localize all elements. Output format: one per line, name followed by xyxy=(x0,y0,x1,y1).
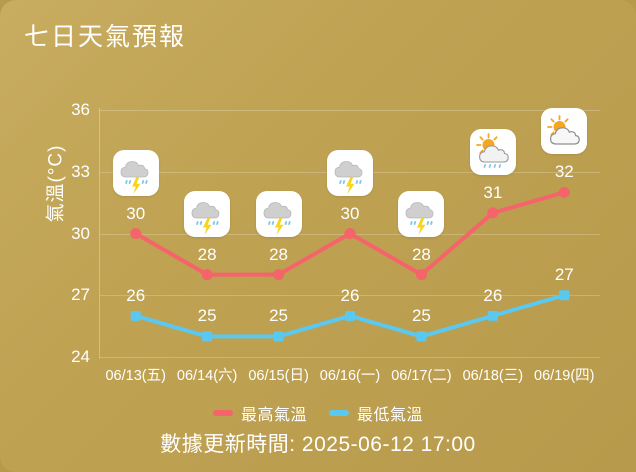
data-value-label: 28 xyxy=(412,245,431,265)
data-value-label: 26 xyxy=(341,286,360,306)
x-axis-tick: 06/17(二) xyxy=(391,364,451,385)
update-time-text: 數據更新時間: 2025-06-12 17:00 xyxy=(0,428,636,458)
weather-forecast-card: 七日天氣預報 2427303336 氣溫(°C) 06/13(五)06/14(六… xyxy=(0,0,636,472)
thunderstorm-rain-icon xyxy=(327,150,373,196)
legend-item[interactable]: 最高氣溫 xyxy=(213,401,307,425)
legend-label: 最低氣溫 xyxy=(357,401,423,425)
x-axis-tick: 06/16(一) xyxy=(320,364,380,385)
data-value-label: 30 xyxy=(126,204,145,224)
thunderstorm-rain-icon xyxy=(256,191,302,237)
legend-item[interactable]: 最低氣溫 xyxy=(329,401,423,425)
data-value-label: 25 xyxy=(198,306,217,326)
x-axis-tick: 06/19(四) xyxy=(534,364,594,385)
x-axis-tick: 06/15(日) xyxy=(248,364,308,385)
thunderstorm-rain-icon xyxy=(113,150,159,196)
sun-cloud-icon xyxy=(541,108,587,154)
legend-color-swatch xyxy=(213,410,233,416)
y-axis-tick: 24 xyxy=(46,347,90,367)
chart-plot-area xyxy=(100,110,600,357)
data-value-label: 25 xyxy=(412,306,431,326)
thunderstorm-rain-icon xyxy=(398,191,444,237)
gridline xyxy=(100,357,600,358)
gridline xyxy=(100,234,600,235)
data-value-label: 30 xyxy=(341,204,360,224)
data-value-label: 31 xyxy=(483,183,502,203)
y-axis-tick: 27 xyxy=(46,285,90,305)
data-value-label: 26 xyxy=(126,286,145,306)
gridline xyxy=(100,110,600,111)
data-value-label: 26 xyxy=(483,286,502,306)
thunderstorm-rain-icon xyxy=(184,191,230,237)
legend-color-swatch xyxy=(329,410,349,416)
x-axis-tick: 06/14(六) xyxy=(177,364,237,385)
data-value-label: 28 xyxy=(269,245,288,265)
data-value-label: 32 xyxy=(555,162,574,182)
sun-cloud-rain-icon xyxy=(470,129,516,175)
legend-label: 最高氣溫 xyxy=(241,401,307,425)
x-axis-tick: 06/18(三) xyxy=(463,364,523,385)
data-value-label: 28 xyxy=(198,245,217,265)
x-axis-tick: 06/13(五) xyxy=(105,364,165,385)
data-value-label: 27 xyxy=(555,265,574,285)
y-axis-title: 氣溫(°C) xyxy=(41,114,68,254)
data-value-label: 25 xyxy=(269,306,288,326)
chart-legend: 最高氣溫最低氣溫 xyxy=(0,401,636,425)
